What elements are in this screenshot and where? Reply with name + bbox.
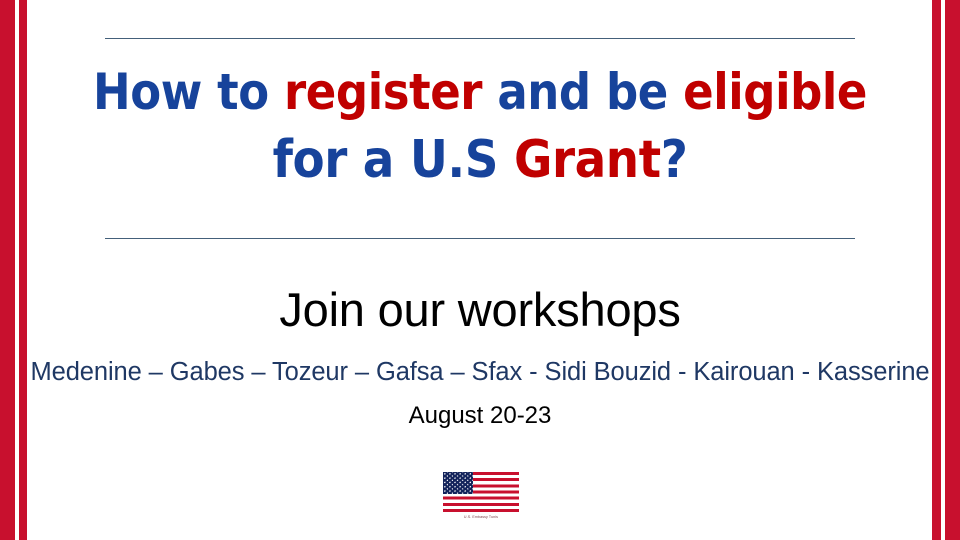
divider-line-bottom (105, 238, 855, 239)
title-segment-eligible: eligible (683, 63, 867, 121)
title-line-2: for a U.S Grant? (60, 126, 900, 194)
left-border-stripe-outer (0, 0, 15, 540)
right-border-stripe-inner (932, 0, 941, 540)
title-segment-grant: Grant (514, 130, 661, 190)
title-segment-how-to: How to (93, 63, 284, 121)
logo-caption: U.S. Embassy Tunis (441, 514, 521, 520)
title-line-1: How to register and be eligible (60, 58, 900, 126)
title-segment-and-be: and be (482, 63, 683, 121)
cities-list-text: Medenine – Gabes – Tozeur – Gafsa – Sfax… (30, 358, 930, 387)
left-border-stripe-inner (19, 0, 27, 540)
page-title: How to register and be eligible for a U.… (60, 58, 900, 194)
event-date-text: August 20-23 (60, 402, 900, 430)
subtitle-text: Join our workshops (60, 282, 900, 337)
title-segment-for-a-us: for a U.S (273, 130, 514, 190)
us-flag-icon (443, 472, 519, 512)
divider-line-top (105, 38, 855, 39)
title-segment-question: ? (661, 130, 688, 190)
organization-logo: U.S. Embassy Tunis (441, 472, 521, 520)
title-segment-register: register (284, 63, 482, 121)
right-border-stripe-outer (945, 0, 960, 540)
flag-stars (443, 472, 473, 494)
presentation-slide: How to register and be eligible for a U.… (0, 0, 960, 540)
